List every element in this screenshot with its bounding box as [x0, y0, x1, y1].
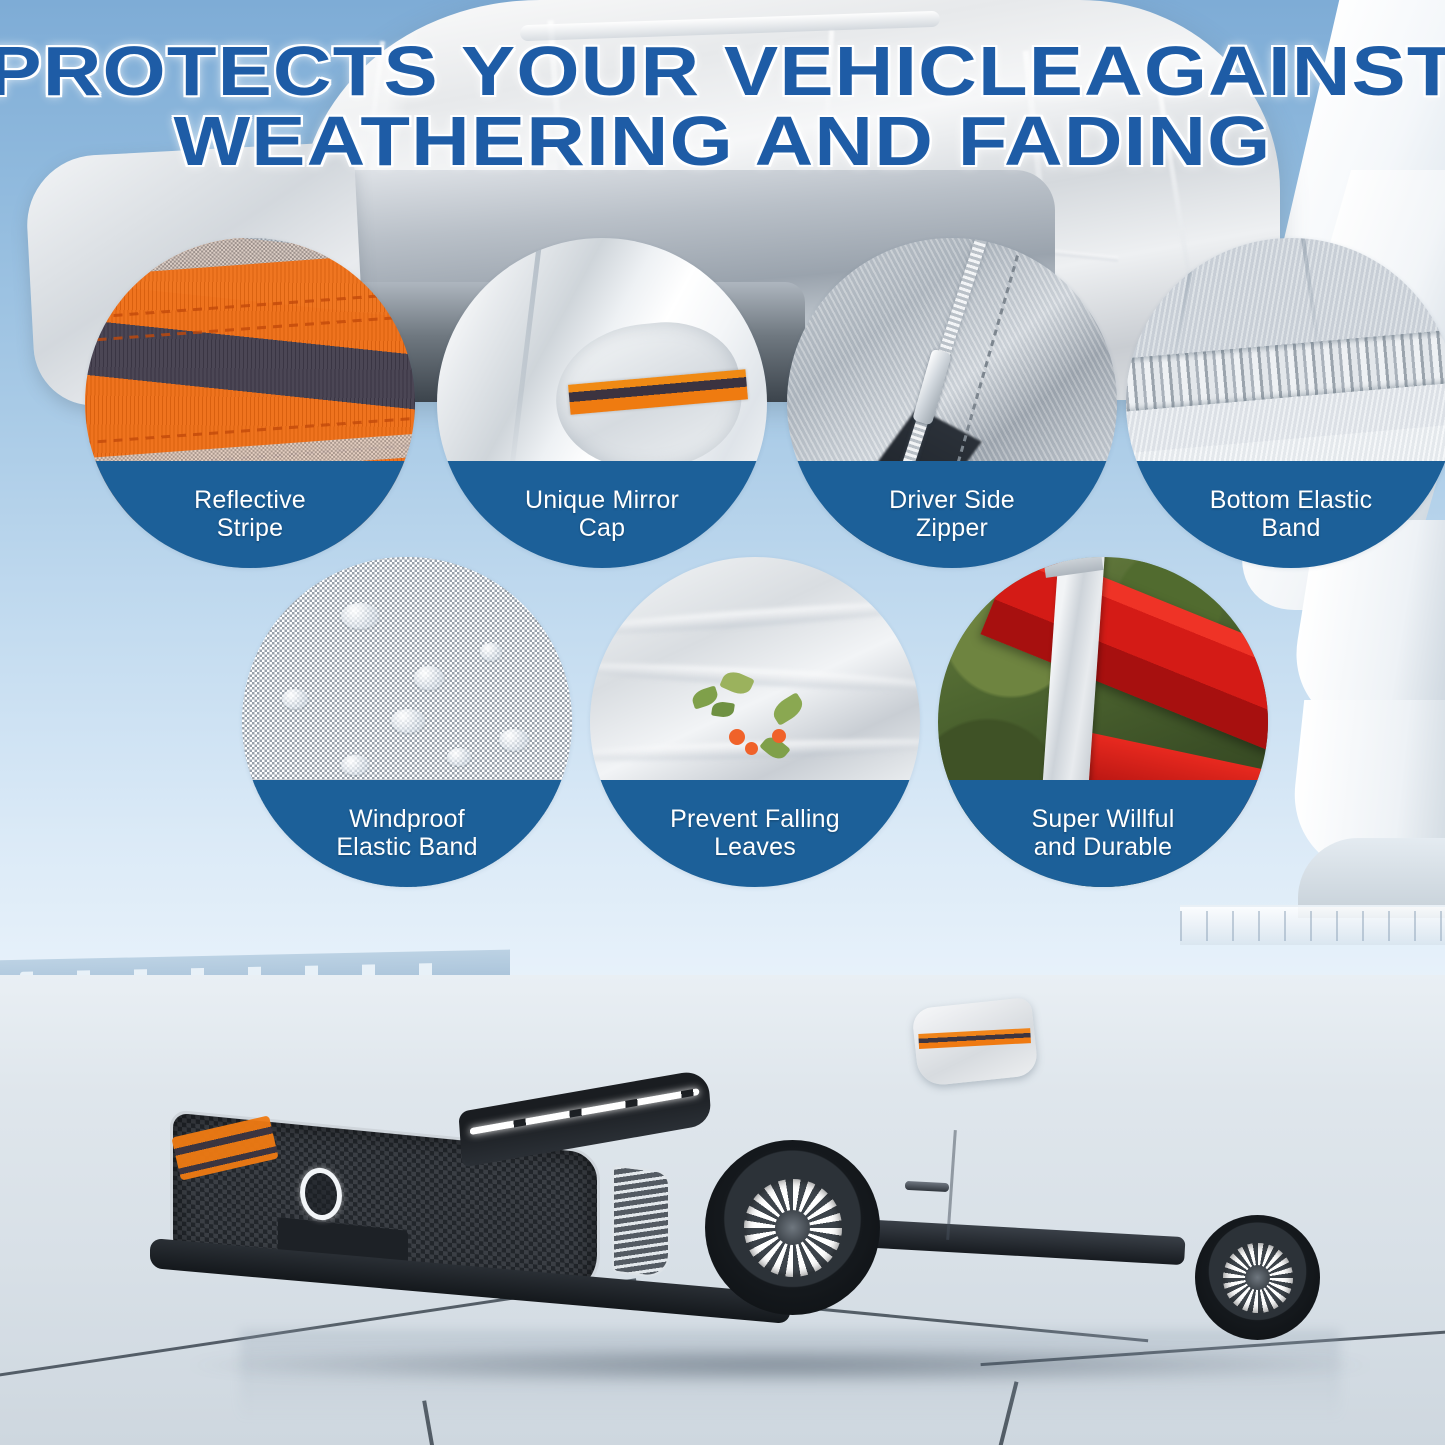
water-droplet [391, 709, 425, 733]
feature-label: Super Willful and Durable [938, 780, 1268, 887]
leaf-icon [769, 692, 807, 726]
feature-super-willful-and-durable[interactable]: Super Willful and Durable [938, 557, 1268, 887]
feature-label: Driver Side Zipper [787, 461, 1117, 568]
berry-icon [729, 729, 745, 745]
page-title: PROTECTS YOUR VEHICLEAGAINST WEATHERING … [0, 38, 1445, 176]
wheel-hub [1245, 1265, 1270, 1290]
mirror-reflective-stripe [918, 1028, 1031, 1049]
headline-line-2: WEATHERING AND FADING [0, 108, 1445, 176]
feature-windproof-elastic-band[interactable]: Windproof Elastic Band [242, 557, 572, 887]
feature-label: Prevent Falling Leaves [590, 780, 920, 887]
fabric-fold [1173, 238, 1201, 359]
feature-mirror-cap[interactable]: Unique Mirror Cap [437, 238, 767, 568]
feature-zipper[interactable]: Driver Side Zipper [787, 238, 1117, 568]
feature-label: Windproof Elastic Band [242, 780, 572, 887]
rear-wheel [1195, 1215, 1320, 1340]
feature-reflective-stripe[interactable]: Reflective Stripe [85, 238, 415, 568]
elastic-ruching [1126, 328, 1445, 413]
feature-label: Reflective Stripe [85, 461, 415, 568]
water-droplet [341, 603, 379, 629]
stitch-line [85, 290, 415, 320]
feature-bottom-elastic-band[interactable]: Bottom Elastic Band [1126, 238, 1445, 568]
fabric-wave [590, 596, 920, 640]
berry-icon [745, 742, 758, 755]
water-droplet [414, 666, 444, 690]
water-droplet [341, 755, 369, 775]
stitch-line [85, 314, 415, 344]
leaf-icon [711, 701, 735, 719]
mesh-edge [85, 238, 415, 278]
water-droplet [499, 729, 529, 751]
headline-line-1: PROTECTS YOUR VEHICLEAGAINST [0, 32, 1445, 110]
bumper-air-vent [612, 1164, 670, 1279]
water-droplet [282, 689, 308, 709]
fabric-fold [507, 238, 544, 488]
zipper-pull-icon [912, 349, 952, 426]
front-wheel [705, 1140, 880, 1315]
feature-prevent-falling-leaves[interactable]: Prevent Falling Leaves [590, 557, 920, 887]
fabric-fold [1298, 238, 1320, 353]
water-droplet [447, 748, 471, 766]
cover-mirror-pocket [911, 997, 1038, 1087]
fabric-wave [590, 659, 920, 696]
berry-icon [772, 729, 786, 743]
water-droplet [480, 643, 502, 661]
feature-label: Unique Mirror Cap [437, 461, 767, 568]
feature-label: Bottom Elastic Band [1126, 461, 1445, 568]
wheel-hub [775, 1210, 810, 1245]
